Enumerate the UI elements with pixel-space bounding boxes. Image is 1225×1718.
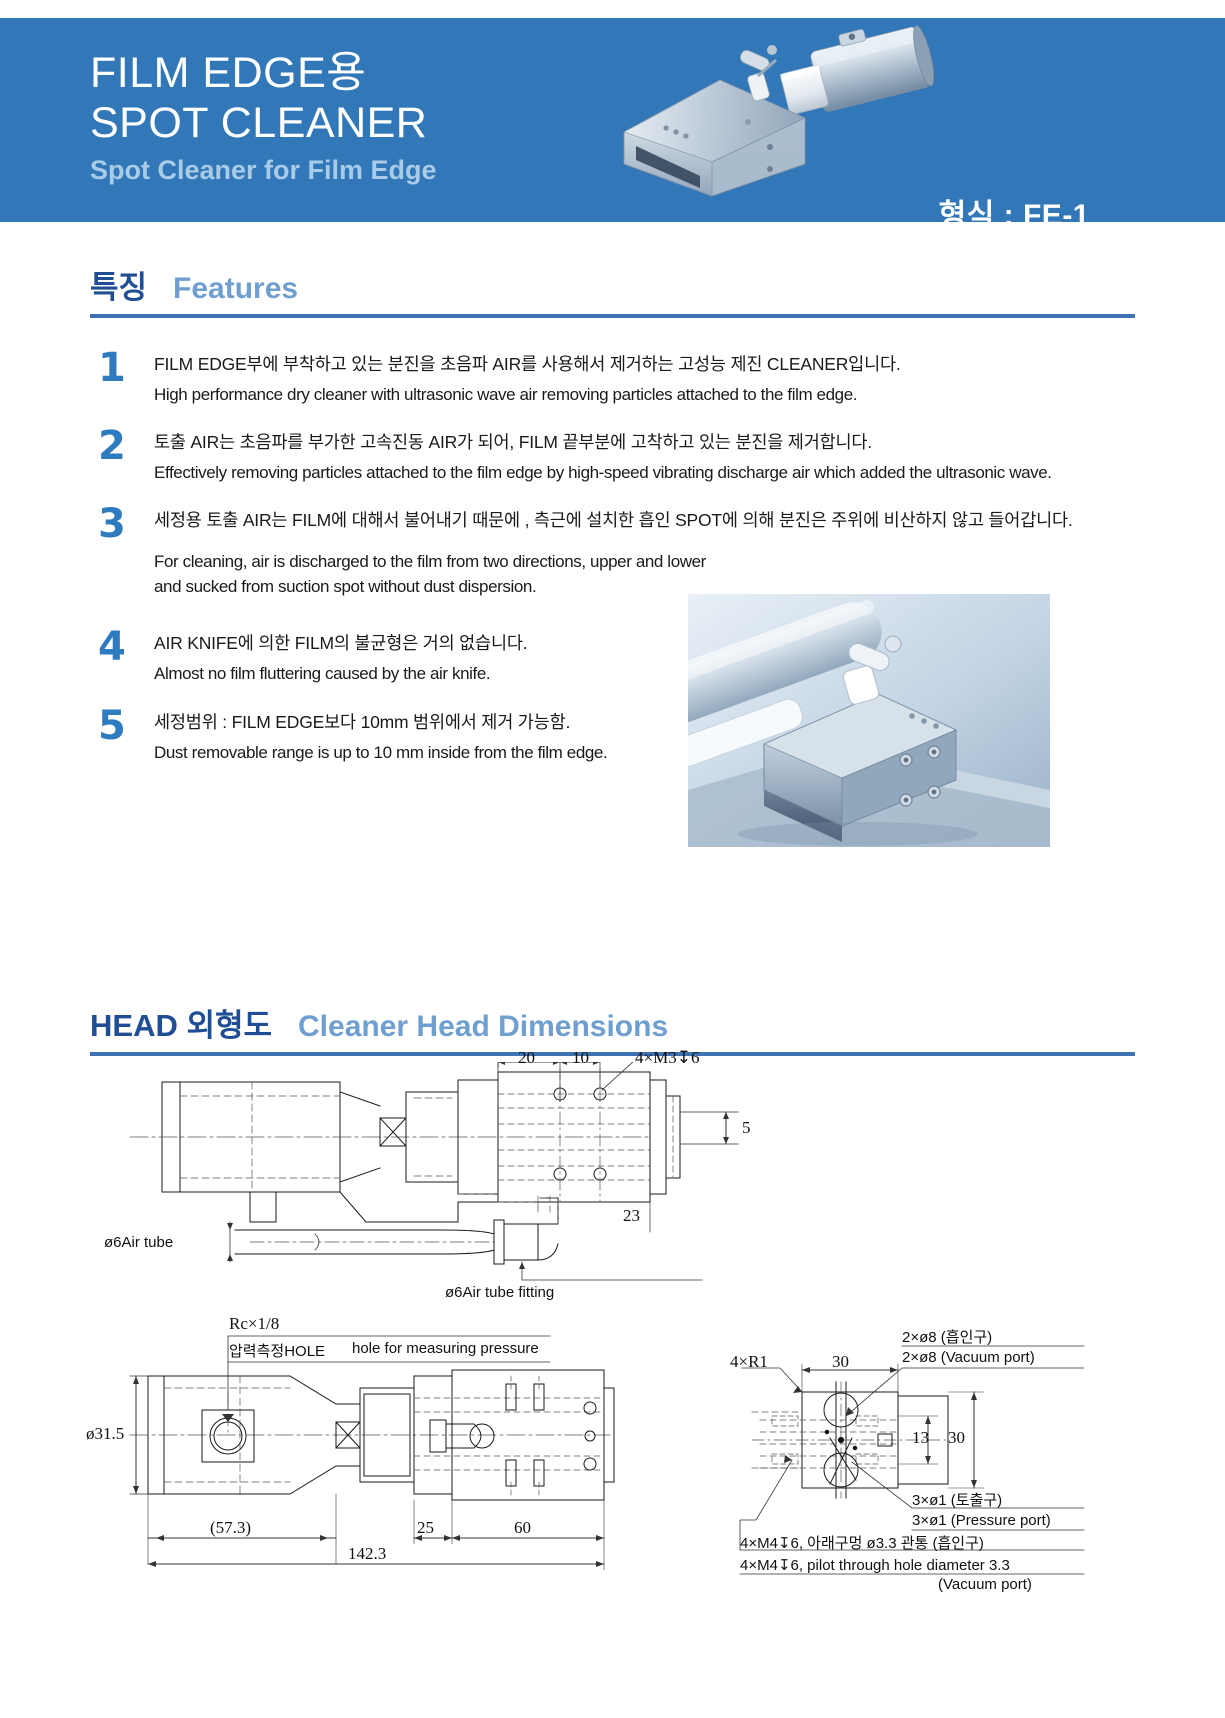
features-heading: 특징 Features — [90, 262, 1135, 307]
feature-text-en: High performance dry cleaner with ultras… — [154, 382, 1135, 407]
technical-drawings: 20 10 4×M3↧6 5 23 ø6Air tube ø6Air tube … — [90, 1062, 1135, 1622]
dimensions-heading: HEAD 외형도 Cleaner Head Dimensions — [90, 1000, 1135, 1045]
dim-label-4xm3: 4×M3↧6 — [635, 1048, 699, 1068]
feature-text-ko: 세정용 토출 AIR는 FILM에 대해서 불어내기 때문에 , 측근에 설치한… — [154, 508, 1134, 533]
banner-subtitle: Spot Cleaner for Film Edge — [90, 150, 437, 190]
feature-text-en: Almost no film fluttering caused by the … — [154, 661, 714, 686]
label-vacuum-port-ko: 2×ø8 (흡인구) — [902, 1326, 992, 1347]
installation-product-image — [688, 594, 1050, 847]
feature-item-2: 2 토출 AIR는 초음파를 부가한 고속진동 AIR가 되어, FILM 끝부… — [90, 428, 1135, 485]
feature-item-1: 1 FILM EDGE부에 부착하고 있는 분진을 초음파 AIR를 사용해서 … — [90, 350, 1135, 407]
hero-product-image — [600, 18, 960, 204]
dim-label-142-3: 142.3 — [348, 1544, 386, 1564]
features-heading-en: Features — [173, 272, 298, 306]
dim-label-30-right: 30 — [948, 1428, 965, 1448]
dim-label-10: 10 — [572, 1048, 589, 1068]
dim-label-60: 60 — [514, 1518, 531, 1538]
dimensions-section: HEAD 외형도 Cleaner Head Dimensions — [90, 1000, 1135, 1056]
feature-text-ko: FILM EDGE부에 부착하고 있는 분진을 초음파 AIR를 사용해서 제거… — [154, 352, 1135, 377]
feature-number: 1 — [90, 350, 154, 386]
label-air-tube: ø6Air tube — [104, 1234, 173, 1251]
label-vacuum-port-en: 2×ø8 (Vacuum port) — [902, 1349, 1035, 1366]
dim-label-5: 5 — [742, 1118, 751, 1138]
feature-number: 2 — [90, 428, 154, 464]
dim-label-20: 20 — [518, 1048, 535, 1068]
label-pressure-port-en: 3×ø1 (Pressure port) — [912, 1512, 1051, 1529]
top-view-drawing — [90, 1062, 1135, 1292]
feature-text-ko: 토출 AIR는 초음파를 부가한 고속진동 AIR가 되어, FILM 끝부분에… — [154, 430, 1135, 455]
feature-number: 5 — [90, 708, 154, 744]
label-pressure-hole-ko: 압력측정HOLE — [229, 1340, 325, 1361]
banner-title-block: FILM EDGE용 SPOT CLEANER Spot Cleaner for… — [90, 48, 437, 190]
header-banner: FILM EDGE용 SPOT CLEANER Spot Cleaner for… — [0, 18, 1225, 222]
label-m4-thread-en: 4×M4↧6, pilot through hole diameter 3.3 — [740, 1556, 1010, 1574]
feature-text-ko: 세정범위 : FILM EDGE보다 10mm 범위에서 제거 가능함. — [154, 710, 724, 735]
label-air-tube-fitting: ø6Air tube fitting — [445, 1284, 554, 1301]
feature-item-3: 3 세정용 토출 AIR는 FILM에 대해서 불어내기 때문에 , 측근에 설… — [90, 506, 1135, 599]
dim-label-57-3: (57.3) — [210, 1518, 251, 1538]
dim-label-25: 25 — [417, 1518, 434, 1538]
feature-text-en: For cleaning, air is discharged to the f… — [154, 549, 714, 599]
feature-number: 4 — [90, 629, 154, 665]
dim-label-30-top: 30 — [832, 1352, 849, 1372]
dimensions-heading-en: Cleaner Head Dimensions — [298, 1010, 668, 1044]
feature-text-en: Dust removable range is up to 10 mm insi… — [154, 740, 724, 765]
label-m4-thread-en2: (Vacuum port) — [938, 1576, 1032, 1593]
features-heading-ko: 특징 — [90, 262, 147, 307]
label-m4-thread-ko: 4×M4↧6, 아래구멍 ø3.3 관통 (흡인구) — [740, 1532, 984, 1553]
dim-label-4xr1: 4×R1 — [730, 1352, 768, 1372]
dimensions-heading-ko: HEAD 외형도 — [90, 1000, 272, 1045]
dim-label-dia-31-5: ø31.5 — [86, 1424, 124, 1444]
features-heading-rule — [90, 314, 1135, 318]
banner-title-line1: FILM EDGE용 — [90, 48, 437, 98]
label-pressure-port-ko: 3×ø1 (토출구) — [912, 1489, 1002, 1510]
label-rc-thread: Rc×1/8 — [229, 1314, 279, 1334]
model-type-badge: 형식 : FE-1 — [939, 190, 1090, 222]
label-pressure-hole-en: hole for measuring pressure — [352, 1340, 539, 1357]
feature-text-ko: AIR KNIFE에 의한 FILM의 불균형은 거의 없습니다. — [154, 631, 714, 656]
dim-label-13: 13 — [912, 1428, 929, 1448]
dim-label-23: 23 — [623, 1206, 640, 1226]
feature-text-en: Effectively removing particles attached … — [154, 460, 1135, 485]
banner-title-line2: SPOT CLEANER — [90, 98, 437, 148]
dimensions-heading-rule — [90, 1052, 1135, 1056]
feature-number: 3 — [90, 506, 154, 542]
